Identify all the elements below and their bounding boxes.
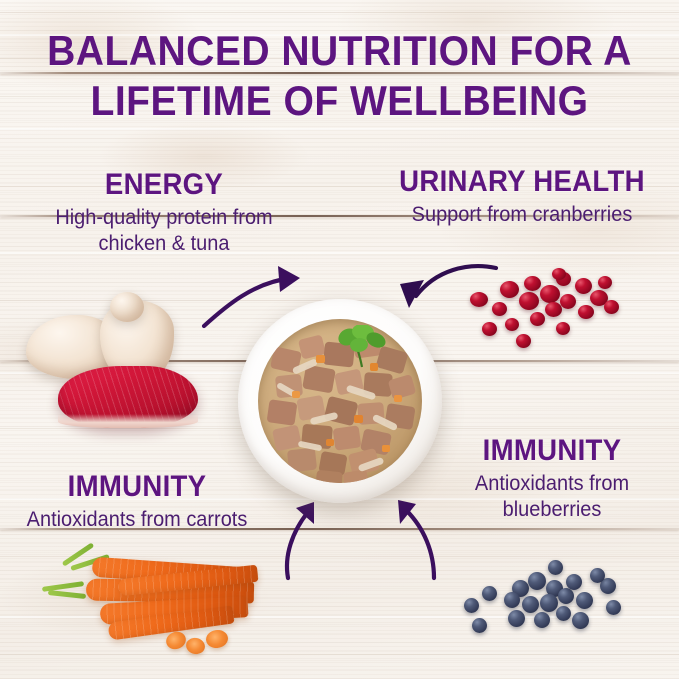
- parsley-garnish-icon: [332, 325, 390, 369]
- blueberry-icon: [590, 568, 605, 583]
- meat-chunk: [287, 448, 317, 473]
- bowl-contents: [258, 319, 422, 483]
- cranberry-icon: [482, 322, 497, 336]
- blueberry-icon: [606, 600, 621, 615]
- blueberry-icon: [508, 610, 525, 627]
- cranberry-icon: [530, 312, 545, 326]
- cranberry-icon: [516, 334, 531, 348]
- carrot-dice: [326, 439, 334, 446]
- blueberry-icon: [558, 588, 574, 604]
- cranberry-icon: [540, 285, 560, 303]
- benefit-immunity-carrots: IMMUNITY Antioxidants from carrots: [0, 470, 282, 533]
- blueberry-icon: [556, 606, 571, 621]
- wet-food-bowl: [238, 299, 442, 503]
- blueberry-icon: [528, 572, 546, 590]
- tuna-steak-icon: [58, 366, 198, 428]
- benefit-energy-subtext: High-quality protein from chicken & tuna: [22, 205, 307, 257]
- meat-chunk: [333, 425, 362, 450]
- blueberry-icon: [534, 612, 550, 628]
- headline: BALANCED NUTRITION FOR A LIFETIME OF WEL…: [24, 26, 655, 126]
- benefit-immunity-blueberries: IMMUNITY Antioxidants from blueberries: [424, 434, 679, 523]
- cranberry-icon: [519, 292, 539, 310]
- blueberry-icon: [482, 586, 497, 601]
- tuna-skin: [58, 414, 198, 428]
- benefit-immunity-blueberries-heading: IMMUNITY: [434, 434, 670, 468]
- carrot-dice: [292, 391, 300, 398]
- benefit-immunity-carrots-subtext: Antioxidants from carrots: [0, 507, 275, 533]
- headline-line-1: BALANCED NUTRITION FOR A: [24, 26, 655, 76]
- meat-chunk: [272, 425, 302, 452]
- cranberry-icon: [560, 294, 576, 309]
- carrot-dice: [382, 445, 390, 452]
- carrot-dice: [394, 395, 402, 402]
- cranberry-icon: [505, 318, 519, 331]
- meat-chunk: [315, 470, 343, 483]
- product-benefits-infographic: BALANCED NUTRITION FOR A LIFETIME OF WEL…: [0, 0, 679, 679]
- cranberry-icon: [578, 305, 594, 319]
- cranberry-icon: [524, 276, 541, 291]
- cranberry-icon: [470, 292, 488, 307]
- blueberry-icon: [566, 574, 582, 590]
- meat-chunk: [267, 399, 298, 426]
- blueberry-icon: [472, 618, 487, 633]
- cranberry-icon: [500, 281, 519, 298]
- headline-line-2: LIFETIME OF WELLBEING: [24, 76, 655, 126]
- benefit-urinary-health: URINARY HEALTH Support from cranberries: [372, 165, 672, 228]
- chicken-icon: [110, 292, 144, 322]
- cranberry-icon: [575, 278, 592, 294]
- cranberry-icon: [556, 322, 570, 335]
- wood-grain-line: [0, 654, 679, 655]
- wood-grain-line: [0, 12, 679, 13]
- benefit-immunity-carrots-heading: IMMUNITY: [4, 470, 271, 504]
- blueberry-icon: [504, 592, 520, 608]
- cranberry-icon: [552, 268, 566, 280]
- meat-chunk: [343, 469, 370, 483]
- blueberry-icon: [464, 598, 479, 613]
- blueberry-icon: [540, 594, 558, 612]
- blueberry-icon: [522, 596, 539, 613]
- blueberry-icon: [576, 592, 593, 609]
- benefit-urinary-health-subtext: Support from cranberries: [380, 202, 665, 228]
- cranberry-icon: [598, 276, 612, 289]
- benefit-energy-heading: ENERGY: [26, 168, 302, 202]
- cranberry-icon: [545, 302, 562, 317]
- cranberry-icon: [604, 300, 619, 314]
- benefit-urinary-health-heading: URINARY HEALTH: [384, 165, 660, 199]
- benefit-energy: ENERGY High-quality protein from chicken…: [14, 168, 314, 257]
- blueberry-icon: [572, 612, 589, 629]
- benefit-immunity-blueberries-subtext: Antioxidants from blueberries: [430, 471, 673, 523]
- wood-grain-line: [0, 128, 679, 130]
- carrot-dice: [354, 415, 363, 423]
- blueberry-icon: [548, 560, 563, 575]
- carrot-dice: [316, 355, 325, 363]
- cranberry-icon: [492, 302, 507, 316]
